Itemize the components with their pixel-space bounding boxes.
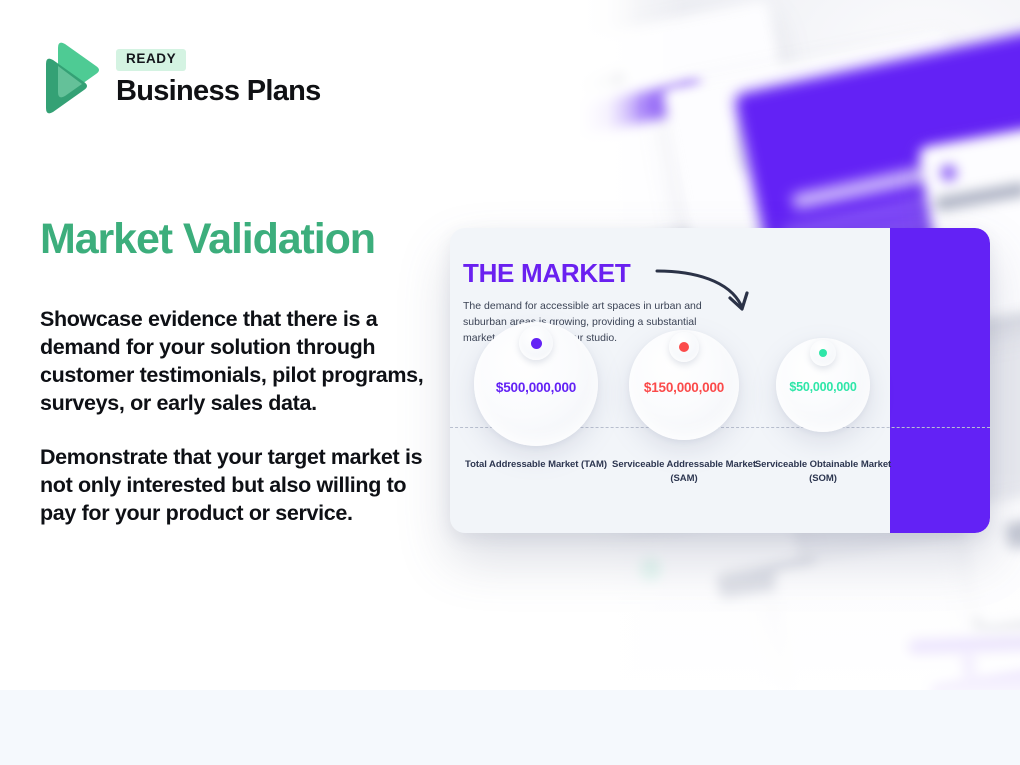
metric-sam[interactable]: $150,000,000 Serviceable Addressable Mar…: [614, 330, 754, 440]
disc-sam: $150,000,000: [629, 330, 739, 440]
play-double-triangle-logo-icon: [40, 38, 102, 116]
knob-tam: [519, 326, 553, 360]
the-market-slide-card: THE MARKET The demand for accessible art…: [450, 228, 990, 533]
page-body-copy: Showcase evidence that there is a demand…: [40, 306, 440, 528]
metric-tam-label: Total Addressable Market (TAM): [461, 458, 611, 472]
market-size-discs: $500,000,000 Total Addressable Market (T…: [450, 228, 990, 533]
metric-sam-amount: $150,000,000: [629, 380, 739, 395]
disc-som: $50,000,000: [776, 338, 870, 432]
brand-text: READY Business Plans: [116, 47, 321, 106]
metric-tam[interactable]: $500,000,000 Total Addressable Market (T…: [462, 322, 610, 446]
body-paragraph-2: Demonstrate that your target market is n…: [40, 444, 440, 528]
metric-som-label: Serviceable Obtainable Market (SOM): [748, 458, 898, 486]
bottom-strip: [0, 690, 1020, 765]
brand-lockup: READY Business Plans: [40, 38, 321, 116]
knob-sam: [669, 332, 699, 362]
metric-tam-amount: $500,000,000: [474, 380, 598, 395]
disc-tam: $500,000,000: [474, 322, 598, 446]
knob-som: [810, 340, 836, 366]
page-title: Market Validation: [40, 216, 375, 262]
metric-som[interactable]: $50,000,000 Serviceable Obtainable Marke…: [758, 338, 888, 432]
metric-dot-green-icon: [819, 349, 827, 357]
body-paragraph-1: Showcase evidence that there is a demand…: [40, 306, 440, 418]
slide-canvas: READY Business Plans Market Validation S…: [0, 0, 1020, 765]
metric-dot-purple-icon: [531, 338, 542, 349]
metric-som-amount: $50,000,000: [776, 380, 870, 394]
ready-badge: READY: [116, 49, 186, 71]
brand-title: Business Plans: [116, 76, 321, 106]
metric-dot-red-icon: [679, 342, 689, 352]
metric-sam-label: Serviceable Addressable Market (SAM): [609, 458, 759, 486]
